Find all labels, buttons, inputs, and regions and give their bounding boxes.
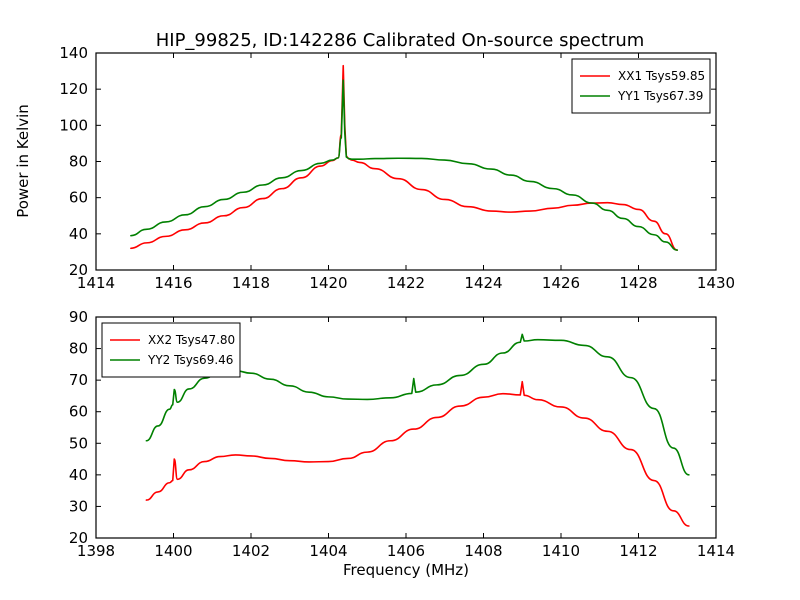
- legend-box: [572, 59, 710, 113]
- y-tick-label: 60: [69, 403, 88, 421]
- bottom-panel-x-axis-label: Frequency (MHz): [343, 561, 469, 579]
- legend-box: [102, 323, 240, 377]
- x-tick-label: 1410: [542, 542, 580, 560]
- x-tick-label: 1430: [697, 274, 735, 292]
- x-tick-label: 1418: [232, 274, 270, 292]
- bottom-panel-legend[interactable]: XX2 Tsys47.80YY2 Tsys69.46: [102, 323, 240, 377]
- top-panel-legend[interactable]: XX1 Tsys59.85YY1 Tsys67.39: [572, 59, 710, 113]
- y-tick-label: 90: [69, 308, 88, 326]
- y-tick-label: 40: [69, 225, 88, 243]
- y-tick-label: 20: [69, 261, 88, 279]
- y-tick-label: 20: [69, 529, 88, 547]
- y-tick-label: 70: [69, 371, 88, 389]
- x-tick-label: 1404: [309, 542, 347, 560]
- x-tick-label: 1400: [154, 542, 192, 560]
- figure-canvas: HIP_99825, ID:142286 Calibrated On-sourc…: [0, 0, 800, 600]
- legend-label: XX2 Tsys47.80: [148, 333, 235, 347]
- y-tick-label: 80: [69, 340, 88, 358]
- series-line-xx2: [146, 382, 689, 526]
- x-tick-label: 1420: [309, 274, 347, 292]
- y-tick-label: 40: [69, 466, 88, 484]
- x-tick-label: 1402: [232, 542, 270, 560]
- y-tick-label: 50: [69, 434, 88, 452]
- x-tick-label: 1426: [542, 274, 580, 292]
- page-title: HIP_99825, ID:142286 Calibrated On-sourc…: [156, 30, 645, 51]
- y-tick-label: 60: [69, 189, 88, 207]
- x-tick-label: 1428: [619, 274, 657, 292]
- top-panel-y-axis-label: Power in Kelvin: [14, 104, 32, 218]
- legend-label: XX1 Tsys59.85: [618, 69, 705, 83]
- spectrum-figure: HIP_99825, ID:142286 Calibrated On-sourc…: [0, 0, 800, 600]
- x-tick-label: 1406: [387, 542, 425, 560]
- x-tick-label: 1408: [464, 542, 502, 560]
- y-tick-label: 80: [69, 153, 88, 171]
- x-tick-label: 1424: [464, 274, 502, 292]
- legend-label: YY2 Tsys69.46: [147, 353, 233, 367]
- legend-label: YY1 Tsys67.39: [617, 89, 703, 103]
- x-tick-label: 1416: [154, 274, 192, 292]
- top-panel: 1414141614181420142214241426142814302040…: [14, 44, 735, 292]
- x-tick-label: 1422: [387, 274, 425, 292]
- y-tick-label: 30: [69, 497, 88, 515]
- bottom-panel: 1398140014021404140614081410141214142030…: [69, 308, 735, 579]
- y-tick-label: 100: [59, 116, 88, 134]
- x-tick-label: 1412: [619, 542, 657, 560]
- x-tick-label: 1414: [697, 542, 735, 560]
- y-tick-label: 140: [59, 44, 88, 62]
- y-tick-label: 120: [59, 80, 88, 98]
